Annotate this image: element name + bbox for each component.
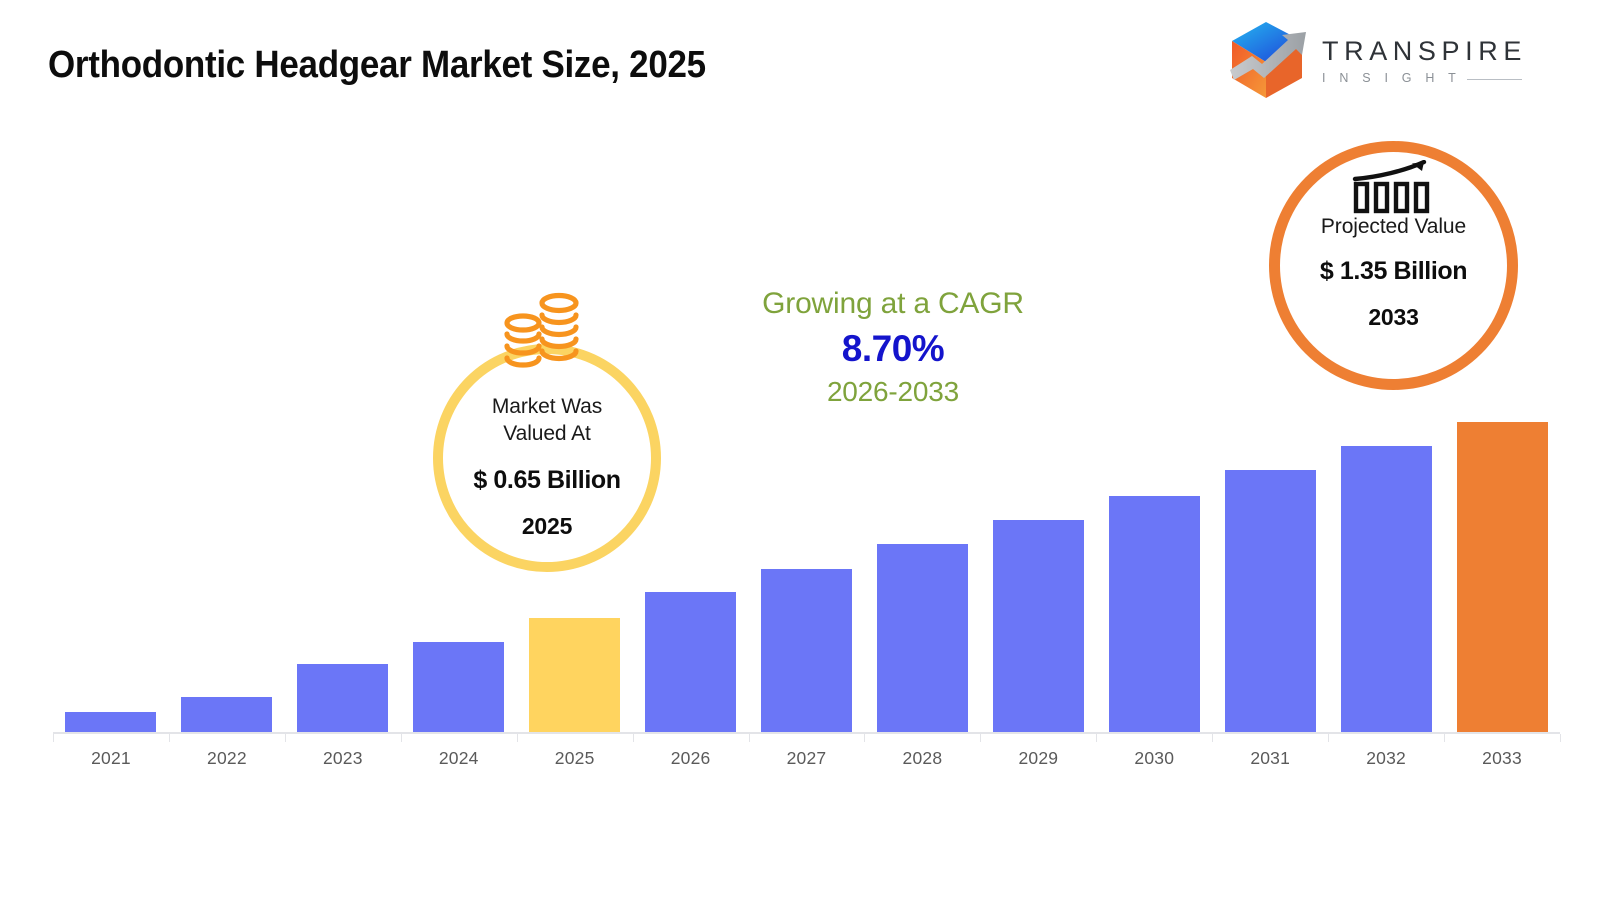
x-label-2024: 2024 <box>401 748 517 769</box>
badge-current-value: Market Was Valued At $ 0.65 Billion 2025 <box>433 344 661 572</box>
badge-current-year: 2025 <box>522 513 572 540</box>
x-label-2022: 2022 <box>169 748 285 769</box>
x-label-2028: 2028 <box>864 748 980 769</box>
bar-2030 <box>1109 496 1200 732</box>
x-label-2030: 2030 <box>1096 748 1212 769</box>
cagr-callout: Growing at a CAGR 8.70% 2026-2033 <box>716 287 1070 407</box>
bar-2021 <box>65 712 156 732</box>
tick-2027 <box>749 734 750 742</box>
badge-current-caption-line1: Market Was <box>492 394 602 421</box>
tick-2023 <box>285 734 286 742</box>
bar-2031 <box>1225 470 1316 732</box>
bar-2024 <box>413 642 504 732</box>
logo-divider-rule <box>1467 79 1522 80</box>
bar-2022 <box>181 697 272 732</box>
cagr-value: 8.70% <box>716 329 1070 370</box>
tick-2029 <box>980 734 981 742</box>
x-label-2029: 2029 <box>980 748 1096 769</box>
transpire-cube-arrow-icon <box>1222 18 1314 102</box>
badge-current-value-text: $ 0.65 Billion <box>473 466 620 495</box>
tick-2028 <box>864 734 865 742</box>
tick-2032 <box>1328 734 1329 742</box>
x-label-2027: 2027 <box>749 748 865 769</box>
brand-logo: TRANSPIRE I N S I G H T <box>1222 18 1522 102</box>
badge-projected-value-text: $ 1.35 Billion <box>1320 257 1467 286</box>
tick-2030 <box>1096 734 1097 742</box>
bar-2027 <box>761 569 852 732</box>
x-label-2026: 2026 <box>633 748 749 769</box>
x-label-2023: 2023 <box>285 748 401 769</box>
badge-projected-caption: Projected Value <box>1321 214 1466 241</box>
x-label-2025: 2025 <box>517 748 633 769</box>
tick-2031 <box>1212 734 1213 742</box>
bar-2023 <box>297 664 388 732</box>
x-axis-line <box>53 732 1560 734</box>
bar-2029 <box>993 520 1084 732</box>
cagr-period: 2026-2033 <box>716 377 1070 408</box>
tick-2025 <box>517 734 518 742</box>
x-label-2033: 2033 <box>1444 748 1560 769</box>
bar-2028 <box>877 544 968 732</box>
page-title: Orthodontic Headgear Market Size, 2025 <box>48 44 706 87</box>
logo-wordmark: TRANSPIRE <box>1322 38 1522 65</box>
cagr-caption: Growing at a CAGR <box>716 287 1070 320</box>
tick-2026 <box>633 734 634 742</box>
badge-current-caption-line2: Valued At <box>492 421 602 448</box>
coin-stacks-icon <box>497 291 593 369</box>
bar-2032 <box>1341 446 1432 732</box>
tick-2033 <box>1444 734 1445 742</box>
bar-2025 <box>529 618 620 732</box>
x-label-2021: 2021 <box>53 748 169 769</box>
badge-current-caption: Market Was Valued At <box>492 394 602 447</box>
x-label-2031: 2031 <box>1212 748 1328 769</box>
bar-2026 <box>645 592 736 732</box>
x-label-2032: 2032 <box>1328 748 1444 769</box>
bar-chart-growth-arrow-icon <box>1352 160 1434 214</box>
logo-text: TRANSPIRE I N S I G H T <box>1322 38 1522 85</box>
tick-end <box>1560 734 1561 742</box>
logo-subtext: I N S I G H T <box>1322 72 1461 85</box>
bar-2033 <box>1457 422 1548 732</box>
tick-2024 <box>401 734 402 742</box>
badge-projected-caption-line1: Projected Value <box>1321 214 1466 241</box>
tick-2021 <box>53 734 54 742</box>
tick-2022 <box>169 734 170 742</box>
logo-subtext-row: I N S I G H T <box>1322 72 1522 85</box>
badge-projected-year: 2033 <box>1368 304 1418 331</box>
infographic-canvas: Orthodontic Headgear Market Size, 2025 <box>0 0 1600 900</box>
